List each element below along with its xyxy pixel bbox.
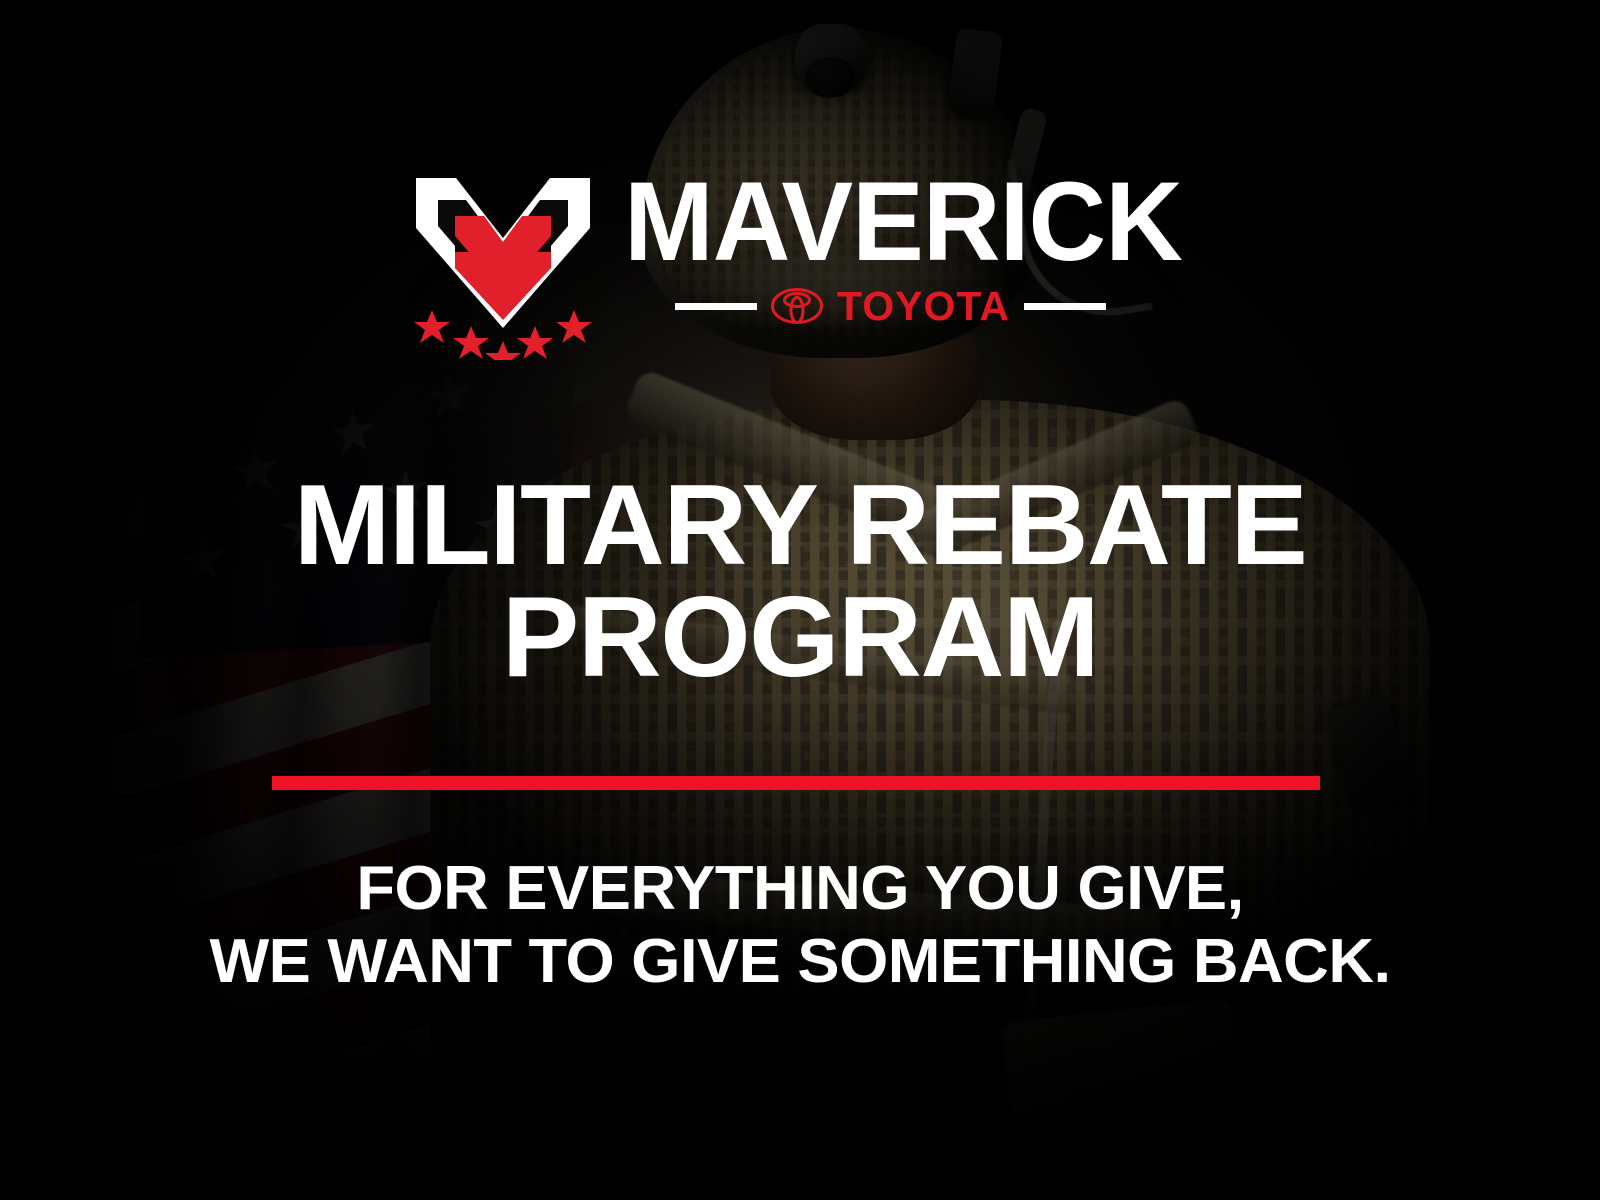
toyota-lockup: TOYOTA	[613, 284, 1168, 328]
subhead-line-1: FOR EVERYTHING YOU GIVE,	[0, 852, 1600, 925]
red-divider	[272, 776, 1320, 790]
military-rebate-promo-banner: MAVERICK TOYOTA MILITARY RE	[0, 0, 1600, 1200]
chevron-rank-badge-icon	[408, 160, 598, 360]
toyota-ellipse-icon	[771, 288, 823, 324]
maverick-toyota-logo[interactable]: MAVERICK TOYOTA	[408, 160, 1168, 360]
headline-line-1: MILITARY REBATE	[0, 470, 1600, 582]
page-subtitle: FOR EVERYTHING YOU GIVE, WE WANT TO GIVE…	[0, 852, 1600, 998]
logo-wordmark: MAVERICK TOYOTA	[613, 160, 1168, 360]
brand-name: MAVERICK	[624, 166, 1157, 278]
page-title: MILITARY REBATE PROGRAM	[0, 470, 1600, 695]
subhead-line-2: WE WANT TO GIVE SOMETHING BACK.	[0, 925, 1600, 998]
headline-line-2: PROGRAM	[0, 582, 1600, 694]
promo-content: MAVERICK TOYOTA MILITARY RE	[0, 0, 1600, 1200]
logo-rule-left	[675, 303, 757, 310]
logo-rule-right	[1024, 303, 1106, 310]
sub-brand-name: TOYOTA	[837, 286, 1010, 327]
